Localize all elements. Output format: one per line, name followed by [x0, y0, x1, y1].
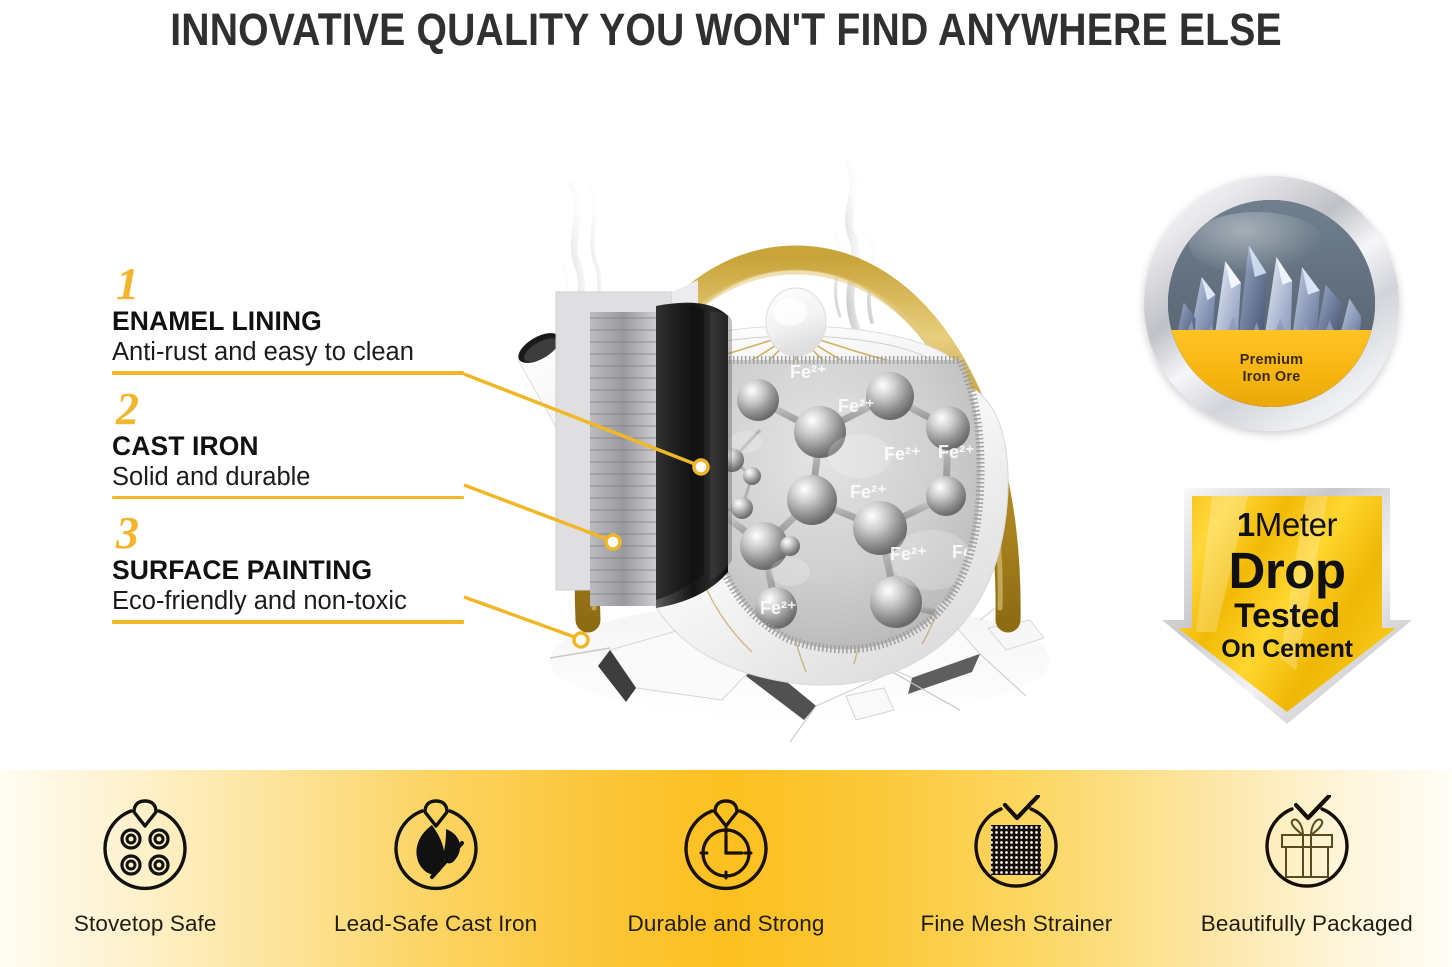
drop-line-3: Tested [1156, 599, 1418, 633]
feature-number: 3 [116, 513, 512, 553]
benefit-label: Fine Mesh Strainer [920, 911, 1112, 937]
feature-number: 2 [116, 389, 512, 429]
benefit-label: Lead-Safe Cast Iron [334, 911, 537, 937]
gift-box-icon [1255, 795, 1359, 899]
mesh-strainer-icon [964, 795, 1068, 899]
benefit-lead-safe-cast-iron: Lead-Safe Cast Iron [290, 770, 580, 937]
fe-label: Fe²⁺ [938, 442, 975, 462]
drop-line-4: On Cement [1156, 637, 1418, 662]
feature-leader-rule [112, 371, 464, 375]
feature-list: 1 ENAMEL LINING Anti-rust and easy to cl… [112, 264, 512, 630]
feature-leader-rule [112, 620, 464, 624]
fe-label: Fe²⁺ [790, 362, 827, 382]
drop-line-1: 1Meter [1156, 508, 1418, 541]
badge-gloss-highlight [1189, 212, 1326, 274]
benefit-durable-and-strong: Durable and Strong [581, 770, 871, 937]
feature-heading: SURFACE PAINTING [112, 555, 512, 586]
teapot-artwork: Fe²⁺ Fe²⁺ Fe²⁺ Fe²⁺ Fe²⁺ Fe²⁺ Fe²⁺ Fe²⁺ [460, 60, 1100, 760]
clock-icon [674, 795, 778, 899]
feature-leader-rule [112, 496, 464, 500]
page-title: INNOVATIVE QUALITY YOU WON'T FIND ANYWHE… [94, 4, 1357, 56]
feature-description: Anti-rust and easy to clean [112, 337, 512, 368]
benefit-bar: Stovetop Safe Lead-Safe Cast Iron [0, 770, 1452, 967]
badge-inner-disc: Premium Iron Ore [1168, 200, 1375, 407]
product-illustration: Fe²⁺ Fe²⁺ Fe²⁺ Fe²⁺ Fe²⁺ Fe²⁺ Fe²⁺ Fe²⁺ [460, 60, 1100, 760]
drop-tested-badge: 1Meter Drop Tested On Cement [1156, 482, 1418, 730]
feature-description: Solid and durable [112, 462, 512, 493]
feature-item-enamel-lining: 1 ENAMEL LINING Anti-rust and easy to cl… [112, 264, 512, 375]
feature-number: 1 [116, 264, 512, 304]
material-layers-card [556, 280, 732, 608]
benefit-stovetop-safe: Stovetop Safe [0, 770, 290, 937]
benefit-label: Stovetop Safe [74, 911, 217, 937]
benefit-beautifully-packaged: Beautifully Packaged [1162, 770, 1452, 937]
feature-item-surface-painting: 3 SURFACE PAINTING Eco-friendly and non-… [112, 513, 512, 624]
feature-item-cast-iron: 2 CAST IRON Solid and durable [112, 389, 512, 500]
stovetop-icon [93, 795, 197, 899]
fe-label: Fe²⁺ [890, 544, 927, 564]
infographic-canvas: INNOVATIVE QUALITY YOU WON'T FIND ANYWHE… [0, 0, 1452, 967]
badge-caption-line2: Iron Ore [1243, 369, 1301, 386]
badge-caption-line1: Premium [1240, 352, 1303, 369]
fe-label: Fe²⁺ [884, 444, 921, 464]
feature-heading: CAST IRON [112, 431, 512, 462]
benefit-label: Beautifully Packaged [1201, 911, 1413, 937]
benefit-fine-mesh-strainer: Fine Mesh Strainer [871, 770, 1161, 937]
fe-label: Fe²⁺ [838, 396, 875, 416]
leaf-lead-free-icon [384, 795, 488, 899]
fe-label: Fe²⁺ [760, 598, 797, 618]
premium-iron-ore-badge: Premium Iron Ore [1144, 176, 1399, 431]
feature-heading: ENAMEL LINING [112, 306, 512, 337]
drop-tested-text: 1Meter Drop Tested On Cement [1156, 508, 1418, 662]
badge-caption: Premium Iron Ore [1168, 330, 1375, 407]
fe-label: Fe²⁺ [850, 482, 887, 502]
feature-description: Eco-friendly and non-toxic [112, 586, 512, 617]
drop-line-2: Drop [1156, 545, 1418, 596]
benefit-label: Durable and Strong [628, 911, 825, 937]
